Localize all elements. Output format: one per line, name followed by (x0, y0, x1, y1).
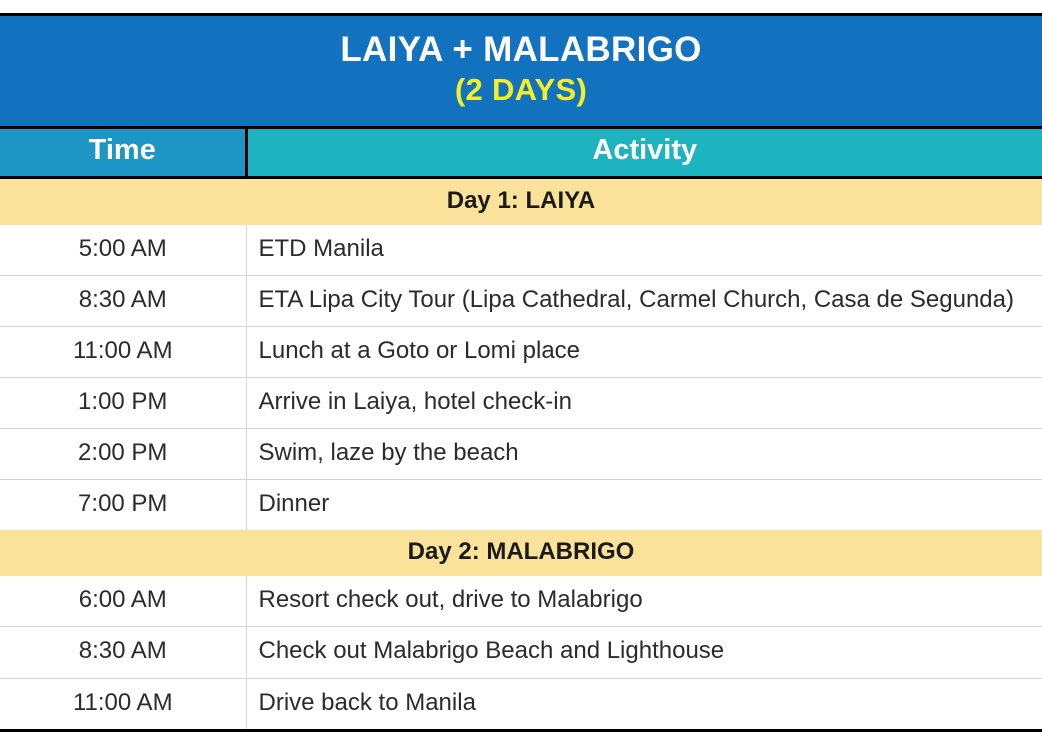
itinerary-page: LAIYA + MALABRIGO (2 DAYS) Time Activity… (0, 0, 1042, 710)
cell-time: 2:00 PM (0, 429, 246, 480)
title-banner: LAIYA + MALABRIGO (2 DAYS) (0, 15, 1042, 128)
table-row: 7:00 PMDinner (0, 480, 1042, 531)
table-row: 8:30 AMCheck out Malabrigo Beach and Lig… (0, 627, 1042, 678)
cell-activity: Swim, laze by the beach (246, 429, 1042, 480)
day-label: Day 1: LAIYA (0, 177, 1042, 225)
column-header-activity: Activity (246, 127, 1042, 177)
cell-time: 7:00 PM (0, 480, 246, 531)
table-row: 11:00 AMLunch at a Goto or Lomi place (0, 327, 1042, 378)
cell-time: 8:30 AM (0, 627, 246, 678)
cell-activity: ETD Manila (246, 225, 1042, 276)
cell-time: 11:00 AM (0, 327, 246, 378)
cell-activity: ETA Lipa City Tour (Lipa Cathedral, Carm… (246, 275, 1042, 326)
cell-time: 1:00 PM (0, 378, 246, 429)
cell-activity: Lunch at a Goto or Lomi place (246, 327, 1042, 378)
cell-time: 11:00 AM (0, 678, 246, 730)
title-banner-row: LAIYA + MALABRIGO (2 DAYS) (0, 15, 1042, 128)
cell-activity: Check out Malabrigo Beach and Lighthouse (246, 627, 1042, 678)
cell-activity: Drive back to Manila (246, 678, 1042, 730)
table-head: LAIYA + MALABRIGO (2 DAYS) Time Activity (0, 15, 1042, 178)
cell-time: 5:00 AM (0, 225, 246, 276)
page-subtitle: (2 DAYS) (10, 73, 1032, 108)
cell-time: 6:00 AM (0, 576, 246, 627)
table-row: 11:00 AMDrive back to Manila (0, 678, 1042, 730)
day-separator-row: Day 1: LAIYA (0, 177, 1042, 225)
table-row: 6:00 AMResort check out, drive to Malabr… (0, 576, 1042, 627)
page-title: LAIYA + MALABRIGO (10, 30, 1032, 69)
table-body: Day 1: LAIYA5:00 AMETD Manila8:30 AMETA … (0, 177, 1042, 730)
table-row: 1:00 PMArrive in Laiya, hotel check-in (0, 378, 1042, 429)
top-spacer (0, 0, 1042, 13)
table-row: 2:00 PMSwim, laze by the beach (0, 429, 1042, 480)
cell-activity: Resort check out, drive to Malabrigo (246, 576, 1042, 627)
cell-activity: Dinner (246, 480, 1042, 531)
cell-activity: Arrive in Laiya, hotel check-in (246, 378, 1042, 429)
column-header-row: Time Activity (0, 127, 1042, 177)
cell-time: 8:30 AM (0, 275, 246, 326)
column-header-time: Time (0, 127, 246, 177)
day-separator-row: Day 2: MALABRIGO (0, 530, 1042, 576)
table-row: 8:30 AMETA Lipa City Tour (Lipa Cathedra… (0, 275, 1042, 326)
table-row: 5:00 AMETD Manila (0, 225, 1042, 276)
day-label: Day 2: MALABRIGO (0, 530, 1042, 576)
itinerary-table: LAIYA + MALABRIGO (2 DAYS) Time Activity… (0, 13, 1042, 732)
